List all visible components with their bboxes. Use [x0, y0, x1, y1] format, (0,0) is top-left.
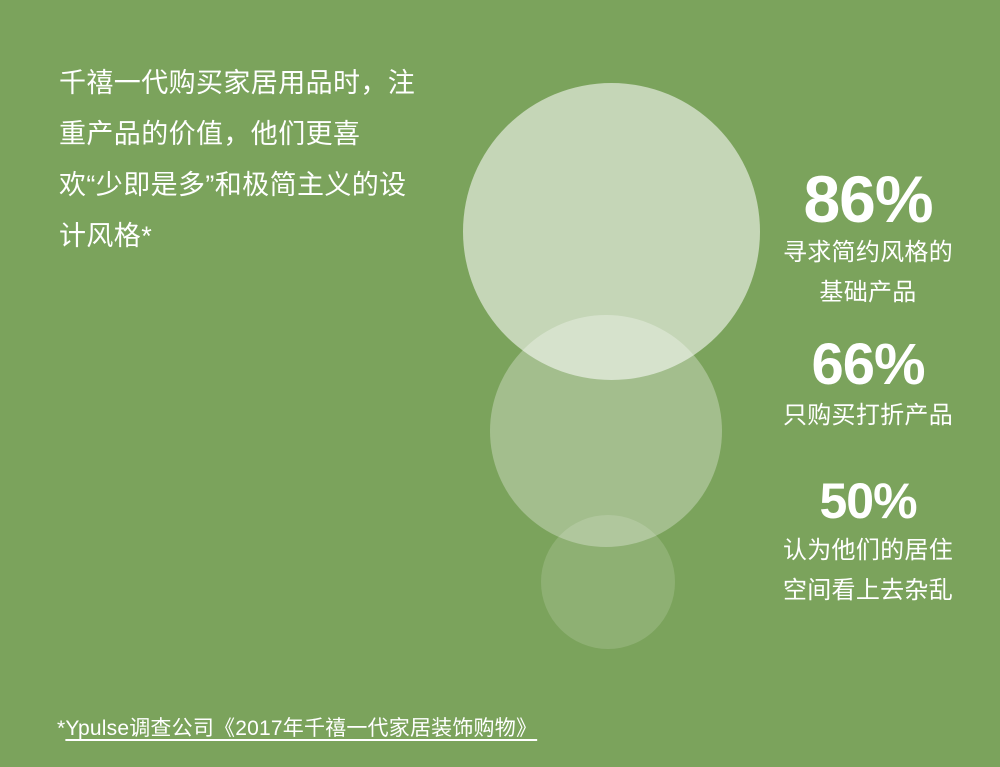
- stats-column: 86% 寻求简约风格的 基础产品 66% 只购买打折产品 50% 认为他们的居住…: [748, 166, 988, 613]
- stat-item-50: 50% 认为他们的居住 空间看上去杂乱: [748, 476, 988, 611]
- stat-item-66: 66% 只购买打折产品: [748, 335, 988, 436]
- stat-label-86: 寻求简约风格的 基础产品: [748, 233, 988, 313]
- bubble-66-percent: [490, 315, 722, 547]
- stat-value-66: 66%: [748, 335, 988, 394]
- stat-label-50: 认为他们的居住 空间看上去杂乱: [748, 531, 988, 611]
- stat-value-86: 86%: [748, 166, 988, 233]
- footnote: *Ypulse调查公司《2017年千禧一代家居装饰购物》: [57, 712, 537, 742]
- bubble-86-percent: [463, 83, 760, 380]
- stat-value-50: 50%: [748, 476, 988, 527]
- footnote-source-link[interactable]: Ypulse调查公司《2017年千禧一代家居装饰购物》: [65, 717, 537, 740]
- bubble-50-percent: [541, 515, 675, 649]
- infographic-canvas: 千禧一代购买家居用品时，注 重产品的价值，他们更喜 欢“少即是多”和极简主义的设…: [0, 0, 1000, 767]
- stat-label-66: 只购买打折产品: [748, 396, 988, 436]
- stat-item-86: 86% 寻求简约风格的 基础产品: [748, 166, 988, 313]
- lead-paragraph: 千禧一代购买家居用品时，注 重产品的价值，他们更喜 欢“少即是多”和极简主义的设…: [59, 58, 459, 262]
